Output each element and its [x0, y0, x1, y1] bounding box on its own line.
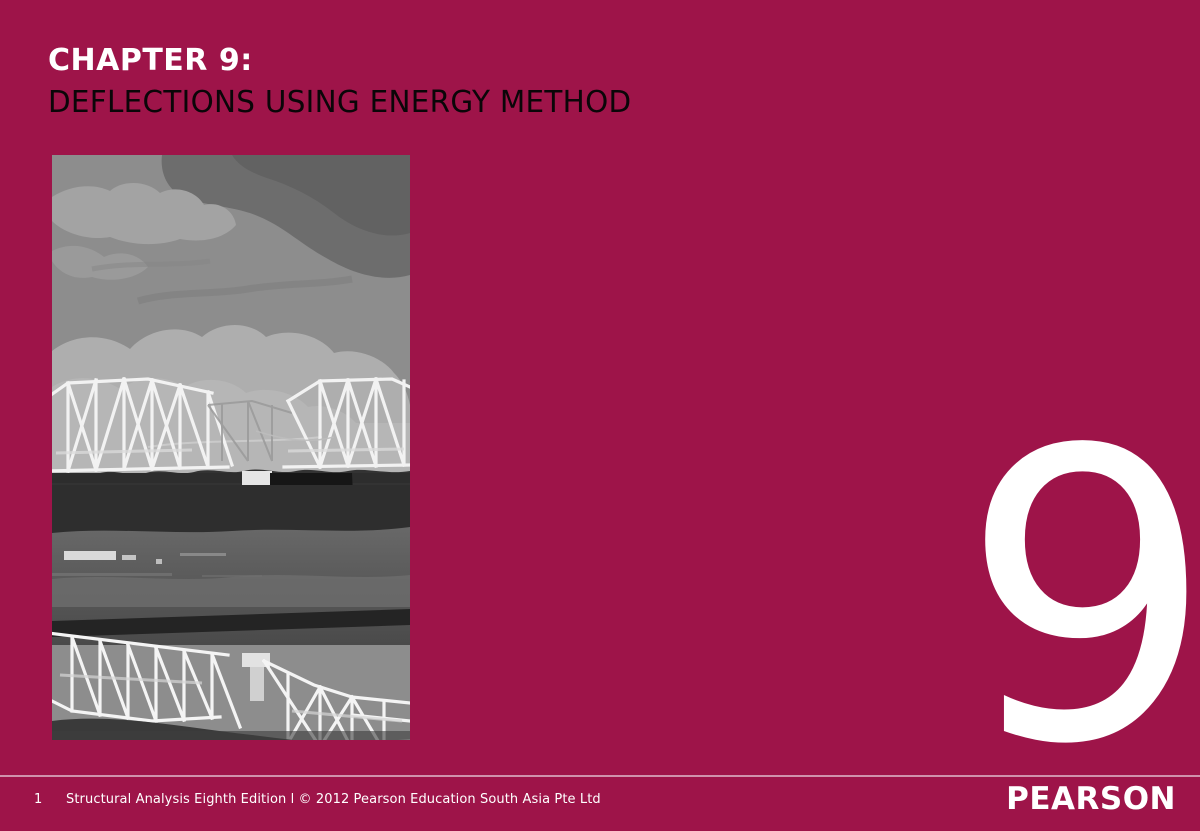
cover-photo-bridge: [52, 155, 410, 740]
title-block: CHAPTER 9: DEFLECTIONS USING ENERGY METH…: [48, 44, 948, 122]
chapter-number-numeral: 9: [960, 430, 1180, 770]
pearson-logo: PEARSON: [1006, 782, 1176, 816]
bridge-photo-illustration: [52, 155, 410, 740]
footer-credit-text: Structural Analysis Eighth Edition l © 2…: [66, 792, 601, 807]
slide-number: 1: [34, 792, 42, 807]
page-title: DEFLECTIONS USING ENERGY METHOD: [48, 84, 930, 122]
chapter-label: CHAPTER 9:: [48, 44, 948, 78]
slide-root: CHAPTER 9: DEFLECTIONS USING ENERGY METH…: [0, 0, 1200, 831]
